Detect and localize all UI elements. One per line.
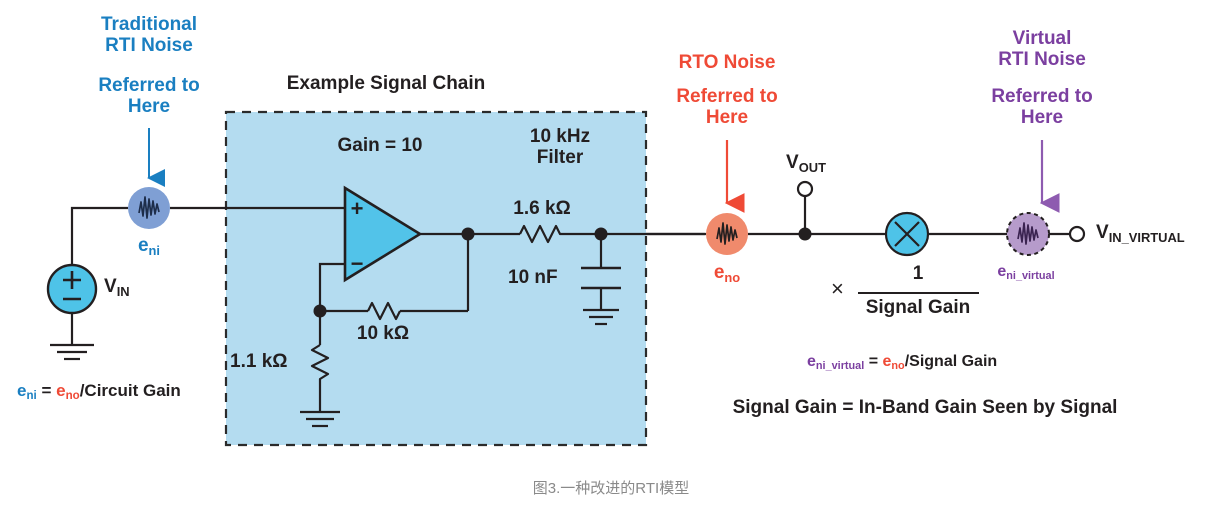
node-dot-vout — [799, 228, 812, 241]
fraction-numerator-label: 1 — [913, 263, 924, 284]
fraction-numerator-text: 1 — [913, 263, 924, 284]
multiply-sign-label: × — [831, 277, 844, 302]
eni-label-sub: ni — [149, 243, 160, 258]
traditional-rti-line2: RTI Noise — [101, 35, 197, 56]
vin-label-sub: IN — [117, 284, 130, 299]
r-series-label-text: 1.6 kΩ — [513, 198, 571, 219]
eni-label: eni — [138, 235, 160, 256]
equation-eni-e2: e — [56, 381, 65, 400]
virtual-rti-title: Virtual RTI Noise — [998, 28, 1086, 71]
vout-label-base: V — [786, 152, 799, 173]
multiply-sign-text: × — [831, 276, 844, 301]
signal-gain-definition-text: Signal Gain = In-Band Gain Seen by Signa… — [733, 397, 1118, 418]
figure-canvas: Traditional RTI Noise Referred to Here R… — [0, 0, 1222, 517]
vin-virtual-terminal — [1070, 227, 1084, 241]
eni-virtual-label-base: e — [997, 263, 1006, 280]
vout-label-sub: OUT — [799, 160, 826, 175]
equation-eni-virtual: eni_virtual = eno/Signal Gain — [807, 353, 997, 371]
rto-noise-line1: RTO Noise — [679, 52, 776, 73]
vin-label-base: V — [104, 276, 117, 297]
equation-eniv-sub: ni_virtual — [816, 360, 864, 372]
equation-eni-tail: /Circuit Gain — [80, 381, 181, 400]
rto-noise-referred: Referred to Here — [676, 86, 777, 129]
eni-virtual-label: eni_virtual — [997, 263, 1054, 281]
equation-eniv-sub2: no — [891, 360, 904, 372]
r-feedback-label: 10 kΩ — [357, 323, 409, 344]
fraction-denominator-label: Signal Gain — [866, 297, 971, 318]
r-gain-label: 1.1 kΩ — [230, 351, 288, 372]
traditional-rti-line4: Here — [98, 96, 199, 117]
c-shunt-label: 10 nF — [508, 267, 558, 288]
equation-eniv-e: e — [807, 353, 816, 370]
node-dot-filter-output — [595, 228, 608, 241]
gain-label: Gain = 10 — [337, 135, 422, 156]
eni-label-base: e — [138, 235, 149, 256]
virtual-rti-line1: Virtual — [998, 28, 1086, 49]
opamp-plus-sign: + — [351, 196, 364, 221]
vin-virtual-label-base: V — [1096, 222, 1109, 243]
figure-caption: 图3.一种改进的RTI模型 — [533, 481, 689, 498]
r-feedback-label-text: 10 kΩ — [357, 323, 409, 344]
noise-source-eni-symbol — [128, 187, 170, 229]
eno-label-sub: no — [724, 270, 740, 285]
rto-noise-line4: Here — [676, 107, 777, 128]
filter-label-line2: Filter — [530, 147, 590, 168]
vin-virtual-label: VIN_VIRTUAL — [1096, 222, 1185, 243]
virtual-rti-line2: RTI Noise — [998, 49, 1086, 70]
noise-source-eni-virtual-symbol — [1007, 213, 1049, 255]
traditional-rti-line3: Referred to — [98, 75, 199, 96]
opamp-minus-sign: − — [351, 251, 364, 276]
virtual-rti-line3: Referred to — [991, 86, 1092, 107]
equation-eniv-tail: /Signal Gain — [905, 353, 997, 370]
node-dot-inverting — [314, 305, 327, 318]
c-shunt-label-text: 10 nF — [508, 267, 558, 288]
rto-noise-line3: Referred to — [676, 86, 777, 107]
vin-label: VIN — [104, 276, 130, 297]
traditional-rti-referred: Referred to Here — [98, 75, 199, 118]
equation-eni-sub: ni — [26, 390, 36, 402]
figure-caption-text: 图3.一种改进的RTI模型 — [533, 480, 689, 497]
vout-terminal — [798, 182, 812, 196]
virtual-rti-referred: Referred to Here — [991, 86, 1092, 129]
opamp-inverting-input-label: − — [351, 252, 364, 277]
r-series-label: 1.6 kΩ — [513, 198, 571, 219]
fraction-denominator-text: Signal Gain — [866, 297, 971, 318]
gain-label-text: Gain = 10 — [337, 135, 422, 156]
eno-label: eno — [714, 262, 740, 283]
equation-eni: eni = eno/Circuit Gain — [17, 381, 181, 400]
signal-gain-definition: Signal Gain = In-Band Gain Seen by Signa… — [733, 397, 1118, 418]
traditional-rti-line1: Traditional — [101, 14, 197, 35]
eni-virtual-label-sub: ni_virtual — [1006, 270, 1054, 282]
equation-eni-sub2: no — [66, 390, 80, 402]
eno-label-base: e — [714, 262, 725, 283]
r-gain-label-text: 1.1 kΩ — [230, 351, 288, 372]
signal-chain-title-text: Example Signal Chain — [287, 73, 486, 94]
signal-chain-title: Example Signal Chain — [287, 73, 486, 94]
equation-eniv-equals: = — [864, 353, 882, 370]
filter-label: 10 kHz Filter — [530, 126, 590, 169]
vin-virtual-label-sub: IN_VIRTUAL — [1109, 230, 1185, 245]
virtual-rti-line4: Here — [991, 107, 1092, 128]
equation-eni-equals: = — [37, 381, 56, 400]
rto-noise-title: RTO Noise — [679, 52, 776, 73]
vout-label: VOUT — [786, 152, 826, 173]
traditional-rti-title: Traditional RTI Noise — [101, 14, 197, 57]
filter-label-line1: 10 kHz — [530, 126, 590, 147]
noise-source-eno-symbol — [706, 213, 748, 255]
opamp-noninverting-input-label: + — [351, 197, 364, 222]
